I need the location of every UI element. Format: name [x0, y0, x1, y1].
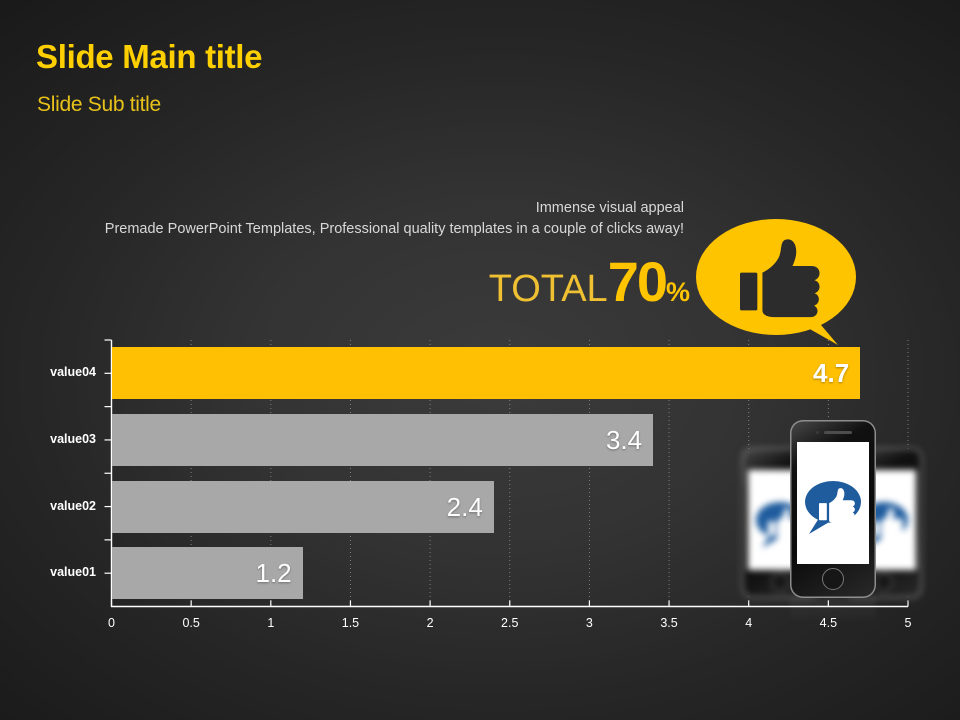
- category-label-value04: value04: [0, 365, 96, 379]
- phone-mockup-group: [742, 420, 922, 615]
- bar-value01[interactable]: 1.2: [112, 547, 303, 599]
- chart-y-ticks: [105, 340, 112, 573]
- phone-center-screen: [797, 442, 869, 564]
- category-label-value01: value01: [0, 565, 96, 579]
- x-tick-label: 0: [108, 616, 115, 630]
- bar-value03[interactable]: 3.4: [112, 414, 654, 466]
- bar-value-label: 1.2: [256, 560, 292, 586]
- phone-home-button: [822, 568, 844, 590]
- x-tick-label: 2.5: [501, 616, 518, 630]
- x-tick-label: 4: [745, 616, 752, 630]
- speech-bubble-thumbs-up-icon: [797, 442, 869, 564]
- bar-value02[interactable]: 2.4: [112, 481, 494, 533]
- bar-value-label: 4.7: [813, 360, 849, 386]
- bar-value-label: 2.4: [447, 494, 483, 520]
- phone-reflection: [790, 598, 876, 624]
- bar-value04[interactable]: 4.7: [112, 347, 861, 399]
- x-tick-label: 3.5: [660, 616, 677, 630]
- x-tick-label: 1: [267, 616, 274, 630]
- phone-right-home-button: [875, 573, 893, 591]
- phone-center: [790, 420, 876, 598]
- x-tick-label: 0.5: [182, 616, 199, 630]
- phone-camera-icon: [816, 431, 819, 434]
- bar-value-label: 3.4: [606, 427, 642, 453]
- x-tick-label: 5: [905, 616, 912, 630]
- category-label-value03: value03: [0, 432, 96, 446]
- x-tick-label: 2: [427, 616, 434, 630]
- phone-left-home-button: [771, 573, 789, 591]
- x-tick-label: 1.5: [342, 616, 359, 630]
- x-tick-label: 3: [586, 616, 593, 630]
- phone-speaker-icon: [824, 431, 852, 434]
- category-label-value02: value02: [0, 499, 96, 513]
- slide-canvas: Slide Main title Slide Sub title Immense…: [0, 0, 960, 720]
